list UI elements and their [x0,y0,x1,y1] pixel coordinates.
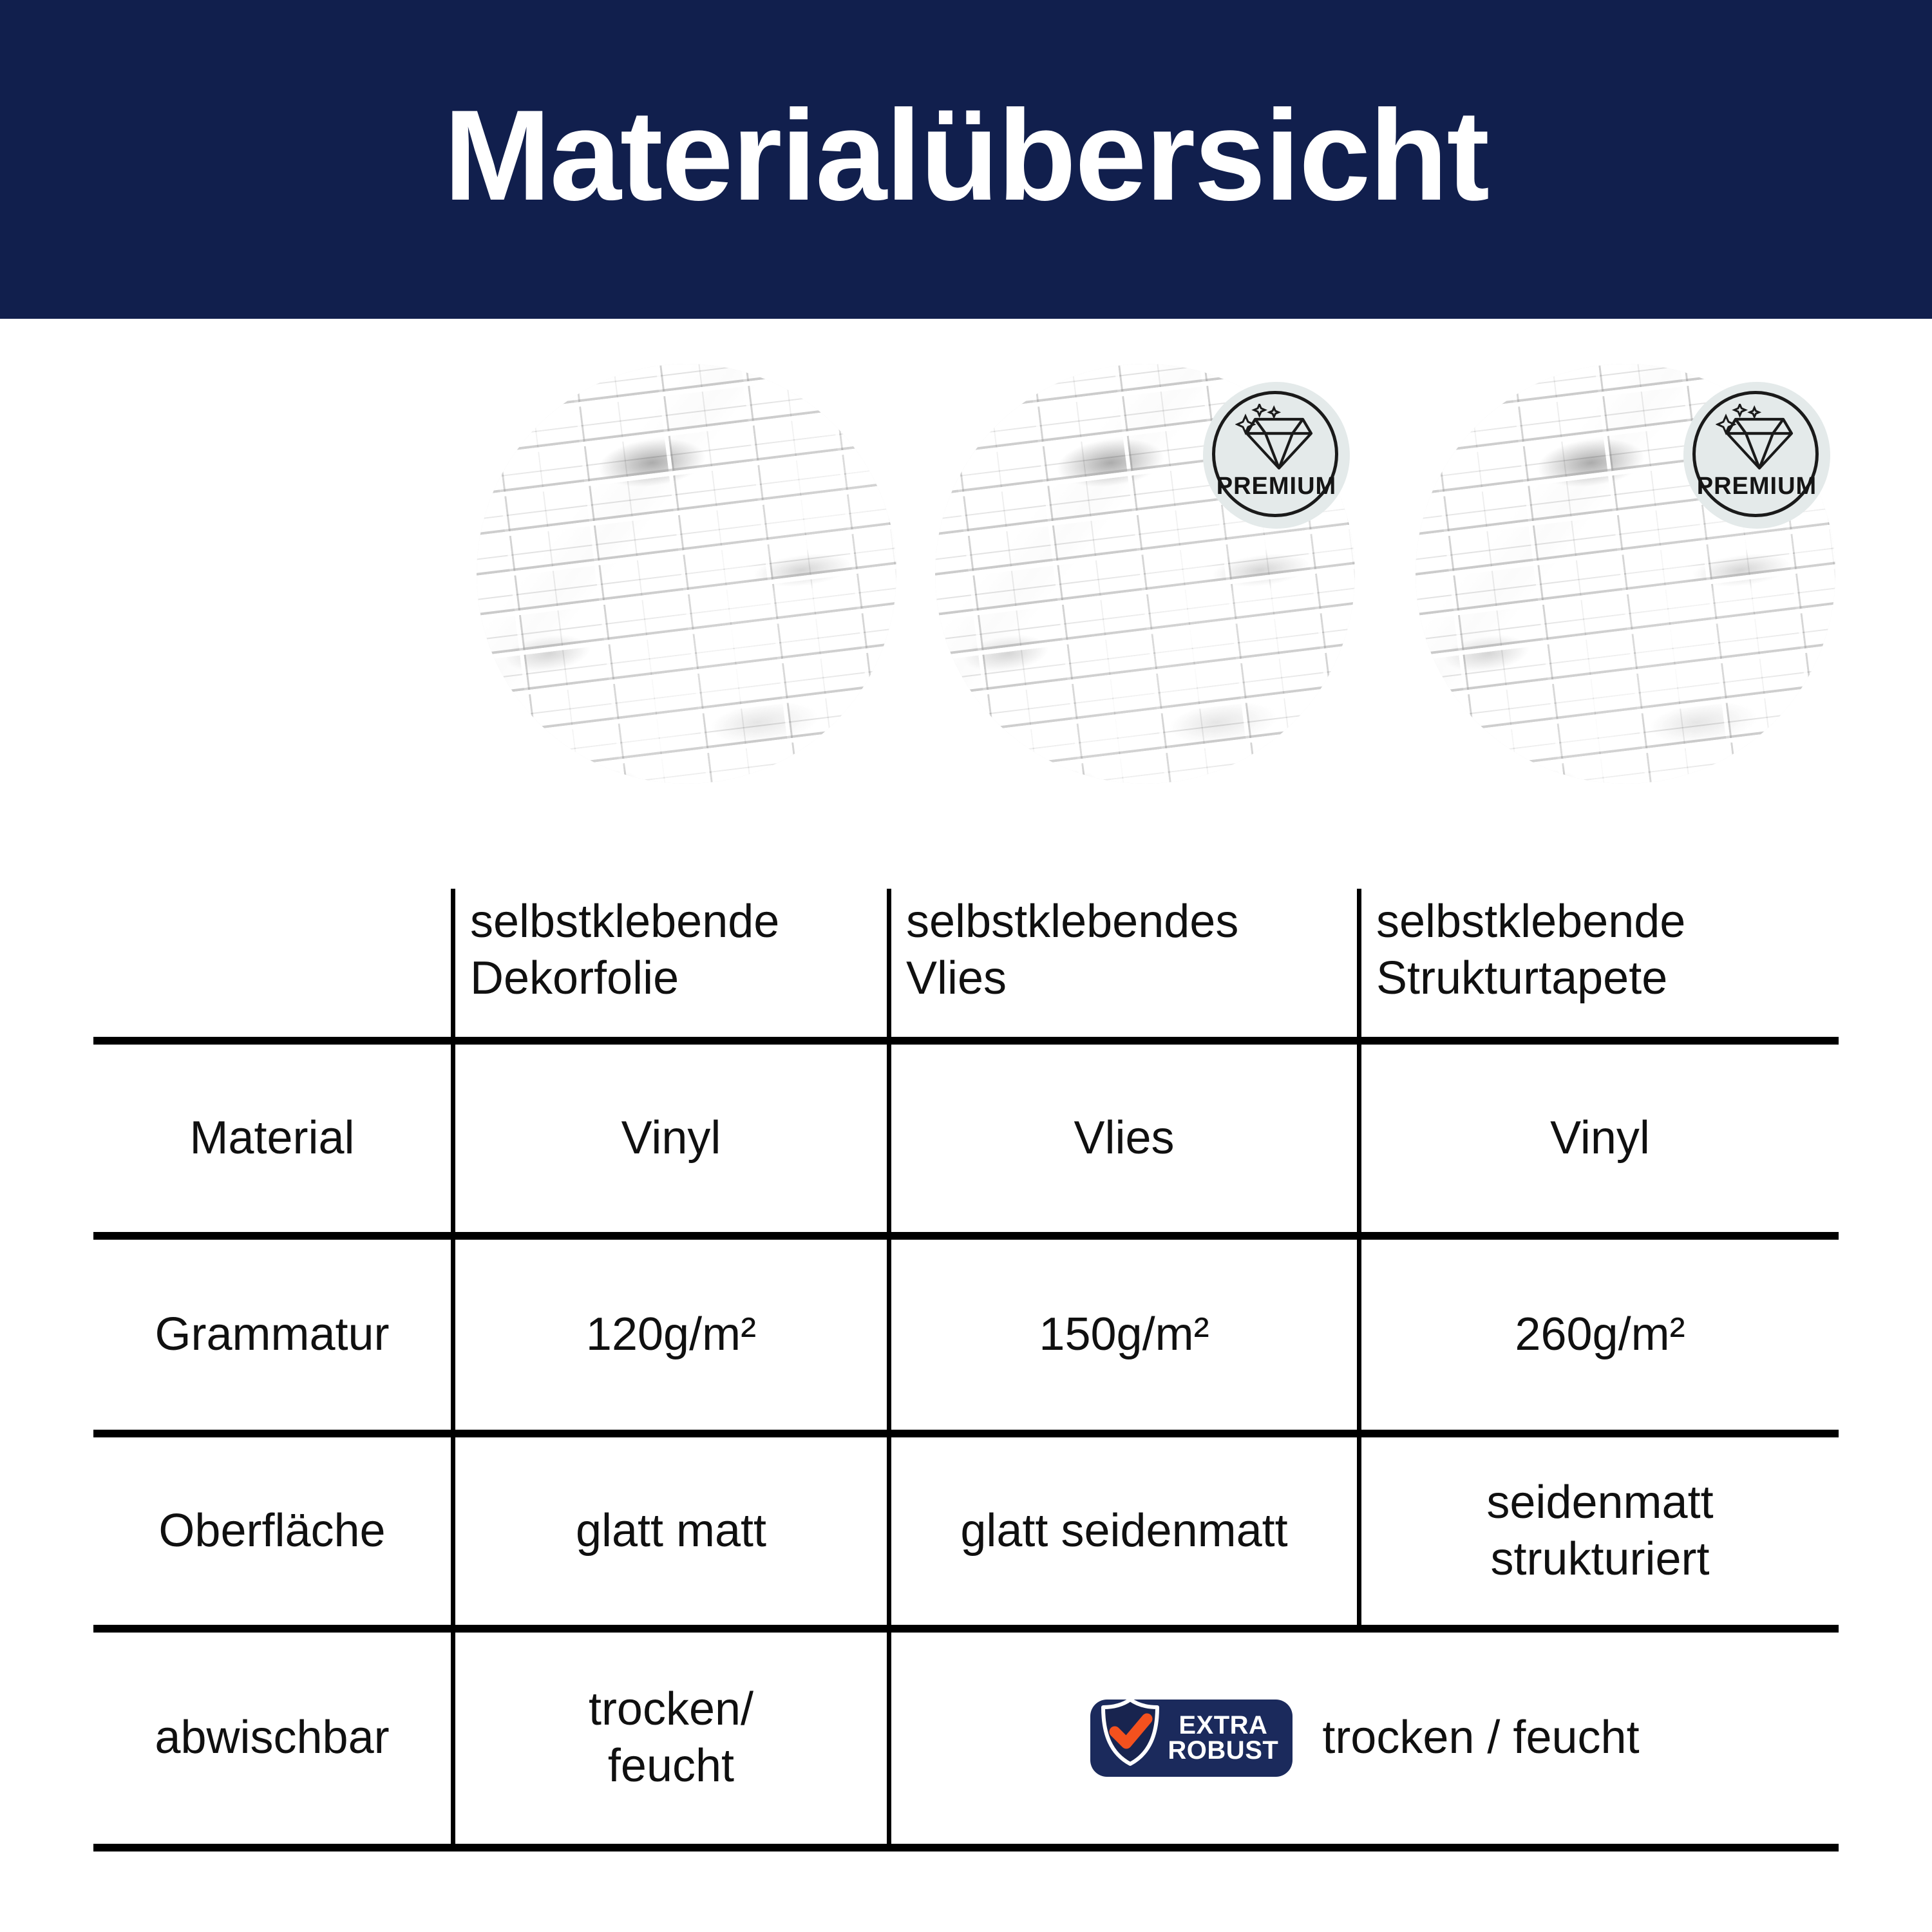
table-rule-row2-bottom [93,1430,1839,1437]
table-cell-oberflaeche-strukturtapete: seidenmatt strukturiert [1361,1437,1839,1625]
table-cell-oberflaeche-vlies: glatt seidenmatt [891,1437,1357,1625]
brick-texture-icon [477,364,896,784]
material-overview-page: Materialübersicht [0,0,1932,1932]
extra-robust-badge: EXTRA ROBUST [1090,1700,1293,1777]
table-row-label-abwischbar: abwischbar [93,1633,451,1844]
material-comparison-table: selbstklebende Dekorfolie selbstklebende… [93,889,1839,1851]
swatch-dekorfolie[interactable] [477,364,896,784]
extra-robust-line2: ROBUST [1168,1738,1278,1763]
table-divider-col2 [887,889,891,1844]
table-column-header-2: selbstklebendes Vlies [906,889,1344,1042]
table-cell-grammatur-strukturtapete: 260g/m² [1361,1240,1839,1430]
table-row-label-grammatur: Grammatur [93,1240,451,1430]
table-row-label-material: Material [93,1045,451,1232]
table-rule-table-bottom [93,1844,1839,1851]
table-cell-material-vlies: Vlies [891,1045,1357,1232]
table-cell-abwischbar-merged-text: trocken / feucht [1322,1710,1639,1766]
diamond-icon [1716,404,1798,474]
table-cell-oberflaeche-dekorfolie: glatt matt [455,1437,887,1625]
table-cell-abwischbar-merged: EXTRA ROBUST trocken / feucht [891,1633,1839,1844]
premium-badge-label: PREMIUM [1203,473,1350,500]
shield-check-icon [1099,1697,1161,1780]
table-divider-col3 [1357,889,1361,1625]
extra-robust-line1: EXTRA [1168,1713,1278,1738]
table-column-header-1: selbstklebende Dekorfolie [470,889,869,1042]
premium-badge-label: PREMIUM [1683,473,1830,500]
table-column-header-3: selbstklebende Strukturtapete [1376,889,1827,1042]
table-cell-material-dekorfolie: Vinyl [455,1045,887,1232]
table-divider-col1 [451,889,455,1844]
table-cell-material-strukturtapete: Vinyl [1361,1045,1839,1232]
material-swatch-row: PREMIUM [0,364,1932,789]
table-cell-grammatur-dekorfolie: 120g/m² [455,1240,887,1430]
diamond-icon [1235,404,1318,474]
table-cell-grammatur-vlies: 150g/m² [891,1240,1357,1430]
premium-badge-strukturtapete: PREMIUM [1683,382,1830,529]
premium-badge-vlies: PREMIUM [1203,382,1350,529]
table-rule-row1-bottom [93,1232,1839,1240]
table-row-label-oberflaeche: Oberfläche [93,1437,451,1625]
page-header: Materialübersicht [0,0,1932,319]
table-rule-row3-bottom [93,1625,1839,1633]
table-cell-abwischbar-dekorfolie: trocken/ feucht [455,1633,887,1844]
page-title: Materialübersicht [444,91,1488,220]
